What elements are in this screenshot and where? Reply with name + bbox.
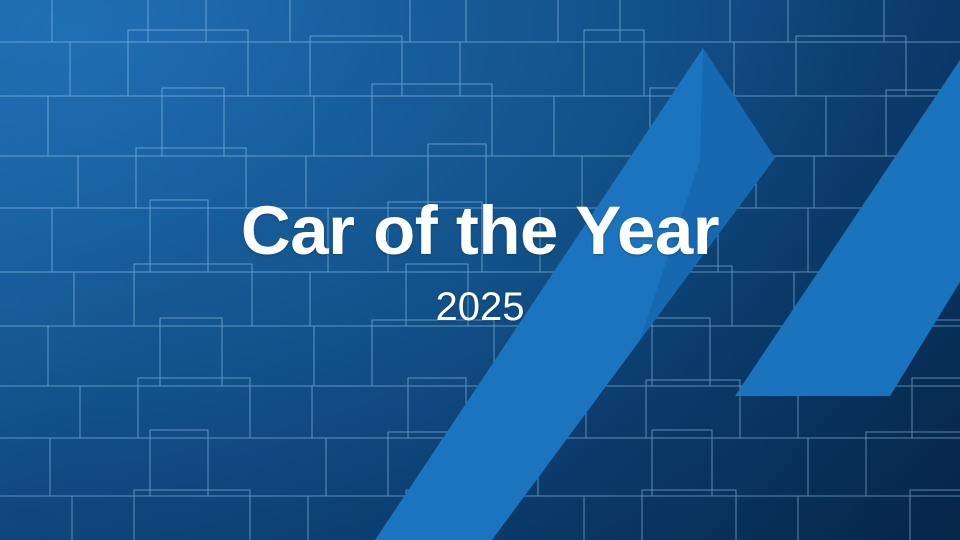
title-text-block: Car of the Year 2025 xyxy=(0,196,960,327)
title-slide: Car of the Year 2025 xyxy=(0,0,960,540)
page-title: Car of the Year xyxy=(0,196,960,265)
page-subtitle: 2025 xyxy=(0,287,960,327)
